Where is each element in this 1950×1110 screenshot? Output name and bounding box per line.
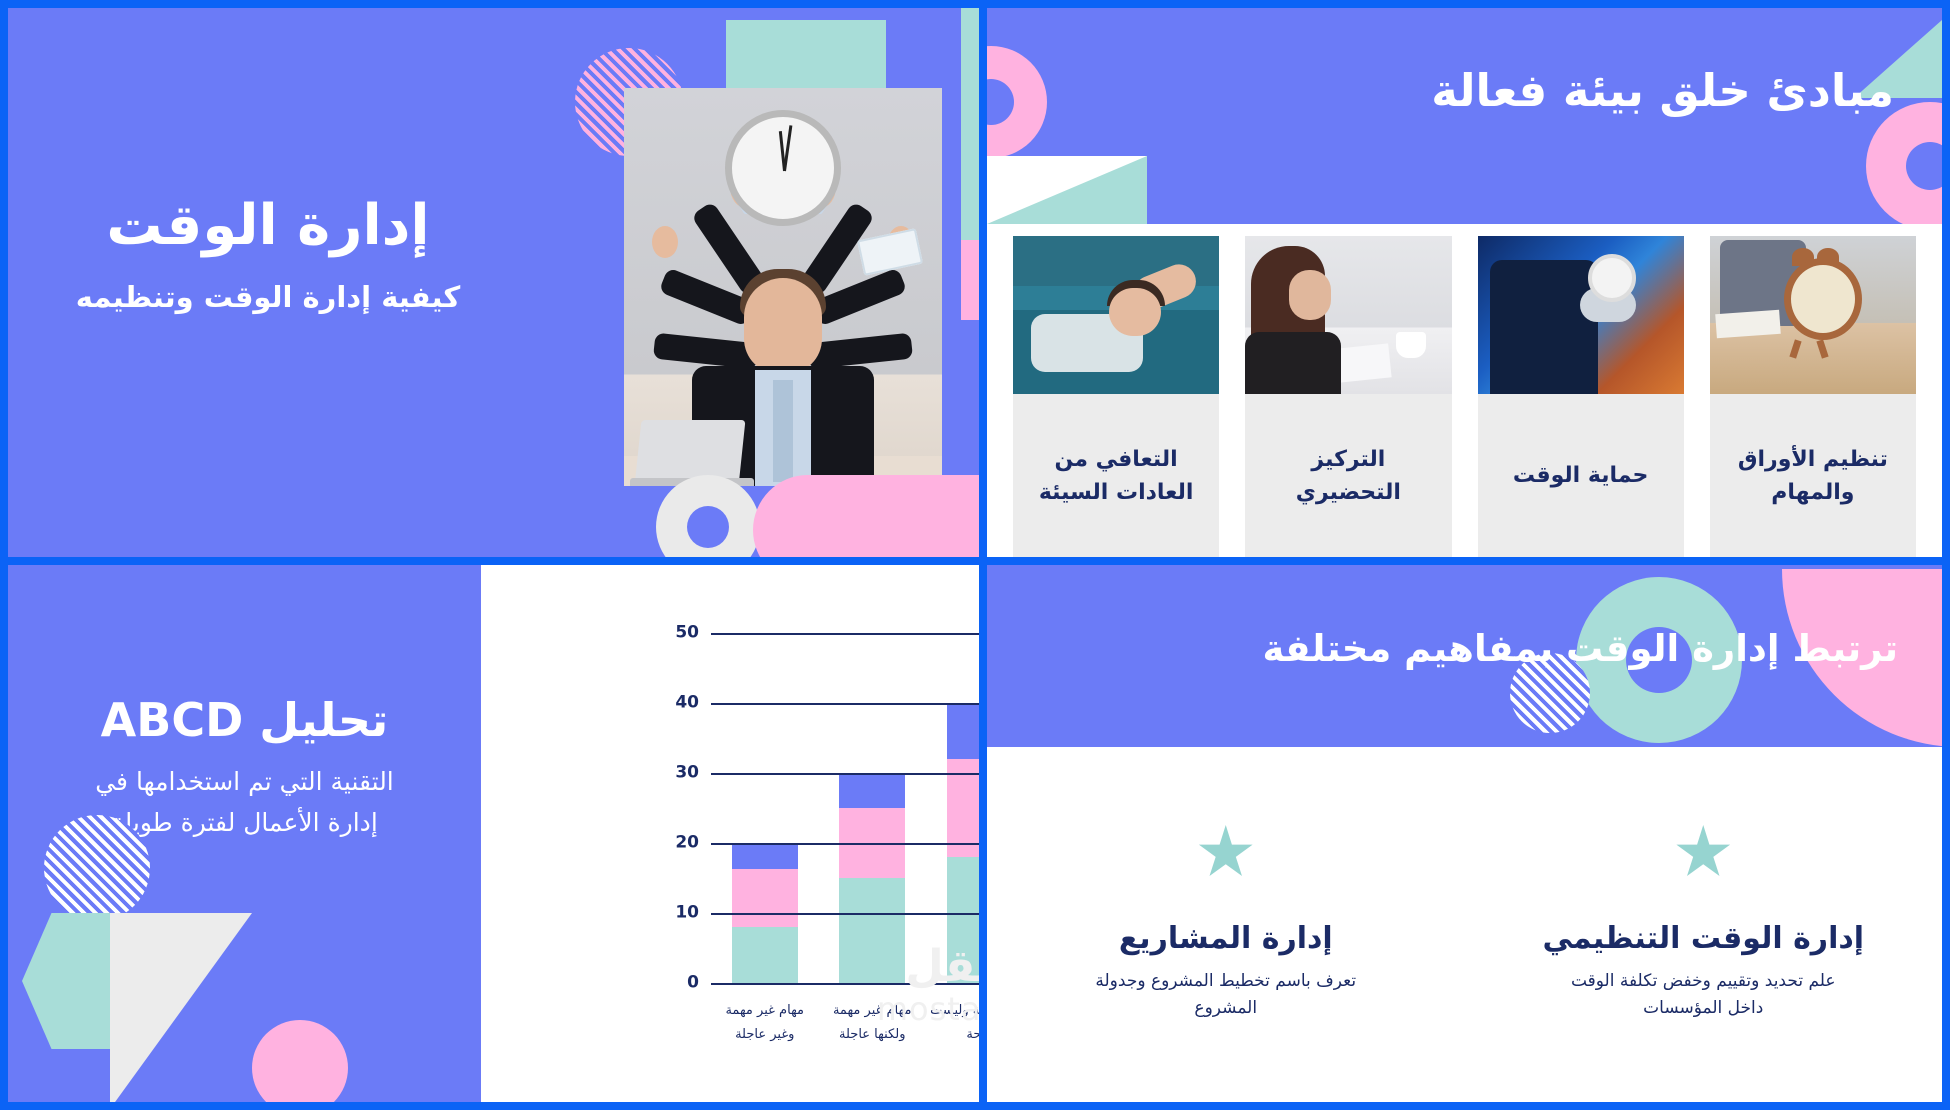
chart-x-label: مهام مهمة وليست ملحة <box>930 999 979 1047</box>
stacked-bar-chart: 01020304050 مهام غير مهمة وغير عاجلةمهام… <box>711 635 979 985</box>
chart-bar-segment-teal <box>947 857 979 985</box>
chart-gridline: 10 <box>711 913 979 915</box>
chart-y-tick-label: 40 <box>675 693 699 713</box>
striped-circle-decoration <box>44 815 150 921</box>
slide-deck: إدارة الوقت كيفية إدارة الوقت وتنظيمه مب… <box>0 0 1950 1110</box>
chart-bars <box>711 635 979 985</box>
chart-bar <box>839 773 905 985</box>
chart-bar-segment-blue <box>732 845 798 869</box>
card-label: التركيز التحضيري <box>1245 394 1451 557</box>
principle-card[interactable]: تنظيم الأوراق والمهام <box>1710 236 1916 557</box>
card-image-bad-habits <box>1013 236 1219 394</box>
slide1-title: إدارة الوقت <box>8 193 528 258</box>
star-icon <box>1198 825 1254 881</box>
chart-bar <box>947 705 979 985</box>
chart-y-tick-label: 0 <box>687 973 699 993</box>
chart-bar-segment-blue <box>947 705 979 759</box>
card-label: التعافي من العادات السيئة <box>1013 394 1219 557</box>
chart-bar-segment-pink <box>732 869 798 927</box>
slide2-title: مبادئ خلق بيئة فعالة <box>1431 64 1894 117</box>
chart-y-tick-label: 30 <box>675 763 699 783</box>
slide3-title: تحليل ABCD <box>8 693 481 747</box>
principle-card[interactable]: حماية الوقت <box>1478 236 1684 557</box>
concept-title: إدارة المشاريع <box>1119 921 1333 956</box>
concept-item[interactable]: إدارة المشاريع تعرف باسم تخطيط المشروع و… <box>987 747 1465 1102</box>
chart-y-tick-label: 50 <box>675 623 699 643</box>
chart-bar-segment-teal <box>732 927 798 985</box>
chart-gridline: 30 <box>711 773 979 775</box>
chart-bar-segment-blue <box>839 773 905 808</box>
concept-description: تعرف باسم تخطيط المشروع وجدولة المشروع <box>1076 968 1376 1022</box>
card-image-protect-time <box>1478 236 1684 394</box>
wall-clock-prop <box>725 110 841 226</box>
card-label: تنظيم الأوراق والمهام <box>1710 394 1916 557</box>
concept-list: إدارة المشاريع تعرف باسم تخطيط المشروع و… <box>987 747 1942 1102</box>
star-icon <box>1675 825 1731 881</box>
slide-time-management-concepts[interactable]: ترتبط إدارة الوقت بمفاهيم مختلفة إدارة ا… <box>987 565 1942 1102</box>
slide1-subtitle: كيفية إدارة الوقت وتنظيمه <box>8 280 528 314</box>
pink-rounded-decoration <box>753 475 979 557</box>
slide3-chart-panel: 01020304050 مهام غير مهمة وغير عاجلةمهام… <box>481 565 979 1102</box>
slide2-header: مبادئ خلق بيئة فعالة <box>987 8 1942 224</box>
chart-gridline: 40 <box>711 703 979 705</box>
concept-item[interactable]: إدارة الوقت التنظيمي علم تحديد وتقييم وخ… <box>1465 747 1943 1102</box>
chart-bar <box>732 845 798 985</box>
chart-gridline: 50 <box>711 633 979 635</box>
principle-card[interactable]: التركيز التحضيري <box>1245 236 1451 557</box>
card-image-preparatory-focus <box>1245 236 1451 394</box>
chart-y-tick-label: 20 <box>675 833 699 853</box>
chart-gridline: 20 <box>711 843 979 845</box>
concept-description: علم تحديد وتقييم وخفض تكلفة الوقت داخل ا… <box>1553 968 1853 1022</box>
gray-donut-decoration <box>656 475 760 557</box>
chart-bar-segment-teal <box>839 878 905 985</box>
chart-x-label: مهام غير مهمة ولكنها عاجلة <box>822 999 922 1047</box>
pink-donut-decoration-left <box>987 46 1047 158</box>
principle-card-list: التعافي من العادات السيئة التركيز التحضي… <box>987 224 1942 557</box>
slide-time-management-title[interactable]: إدارة الوقت كيفية إدارة الوقت وتنظيمه <box>8 8 979 557</box>
principle-card[interactable]: التعافي من العادات السيئة <box>1013 236 1219 557</box>
chart-gridline: 0 <box>711 983 979 985</box>
card-image-organize-papers <box>1710 236 1916 394</box>
teal-edge-decoration <box>961 8 979 240</box>
concept-title: إدارة الوقت التنظيمي <box>1542 921 1864 956</box>
slide-abcd-analysis[interactable]: تحليل ABCD التقنية التي تم استخدامها في … <box>8 565 979 1102</box>
chart-y-tick-label: 10 <box>675 903 699 923</box>
card-label: حماية الوقت <box>1478 394 1684 557</box>
gray-triangle-decoration <box>110 913 252 1102</box>
businessman-clock-photo <box>624 88 942 486</box>
slide4-header: ترتبط إدارة الوقت بمفاهيم مختلفة <box>987 565 1942 747</box>
pink-circle-decoration <box>252 1020 348 1102</box>
chart-x-label: مهام غير مهمة وغير عاجلة <box>715 999 815 1047</box>
laptop-prop <box>635 420 746 486</box>
slide4-title: ترتبط إدارة الوقت بمفاهيم مختلفة <box>1262 627 1898 670</box>
pink-edge-decoration <box>961 240 979 320</box>
slide-effective-environment-principles[interactable]: مبادئ خلق بيئة فعالة التعافي من العادات … <box>987 8 1942 557</box>
white-triangle-decoration <box>987 156 1147 224</box>
slide3-text-panel: تحليل ABCD التقنية التي تم استخدامها في … <box>8 565 481 1102</box>
chart-x-axis-labels: مهام غير مهمة وغير عاجلةمهام غير مهمة ول… <box>711 999 979 1047</box>
pink-donut-decoration-right <box>1866 102 1942 224</box>
